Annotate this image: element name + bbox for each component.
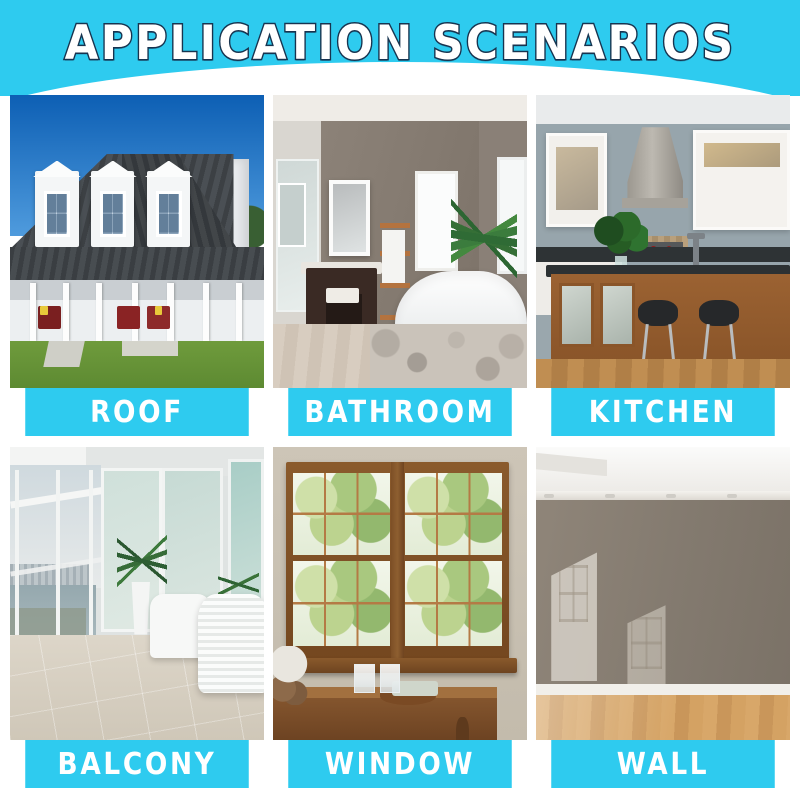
- floor-light-sheen: [536, 695, 790, 740]
- shoreline: [10, 608, 86, 637]
- pinecone-decoration: [273, 646, 309, 705]
- porch-column: [203, 283, 209, 342]
- shower-frame: [278, 183, 306, 247]
- caption-bathroom: BATHROOM: [288, 388, 512, 436]
- ceiling-track: [605, 494, 615, 498]
- vanity-mirror: [329, 180, 370, 256]
- bar-stool-seat: [638, 300, 679, 326]
- porch-cushion: [155, 306, 163, 315]
- walkway: [43, 341, 84, 367]
- hanging-towel: [382, 230, 405, 283]
- range-hood-lip: [622, 198, 688, 208]
- upper-cabinet-right: [693, 130, 790, 230]
- baseboard: [536, 684, 790, 694]
- porch-cushion: [40, 306, 48, 315]
- caption-balcony: BALCONY: [25, 740, 249, 788]
- pebble-floor-accent: [370, 324, 527, 388]
- window-sash: [405, 473, 502, 555]
- window-grille: [293, 473, 390, 555]
- wicker-chair: [198, 594, 264, 694]
- window-grille: [405, 561, 502, 646]
- drinking-glass: [354, 664, 374, 693]
- wood-floor: [536, 359, 790, 388]
- caption-wall: WALL: [551, 740, 775, 788]
- porch-column: [30, 283, 36, 342]
- window-photo: [273, 447, 527, 740]
- balcony-photo: [10, 447, 264, 740]
- poster-header: APPLICATION SCENARIOS: [0, 0, 800, 96]
- scenario-card-balcony[interactable]: BALCONY: [10, 447, 264, 788]
- window-mullion: [391, 462, 404, 661]
- wall-photo: [536, 447, 790, 740]
- window-sash: [293, 473, 390, 555]
- ceiling-track: [727, 494, 737, 498]
- dormer-window-2: [91, 171, 134, 247]
- scenario-card-bathroom[interactable]: BATHROOM: [273, 95, 527, 436]
- roof-photo: [10, 95, 264, 388]
- dormer-window-1: [35, 171, 78, 247]
- window-sash: [405, 561, 502, 646]
- back-countertop: [536, 247, 790, 262]
- scenario-card-kitchen[interactable]: KITCHEN: [536, 95, 790, 436]
- caption-window: WINDOW: [288, 740, 512, 788]
- caption-roof: ROOF: [25, 388, 249, 436]
- island-glass-door: [600, 283, 636, 347]
- bar-stool-seat: [699, 300, 740, 326]
- porch-furniture: [117, 306, 140, 329]
- green-plant: [592, 212, 648, 259]
- application-scenarios-poster: APPLICATION SCENARIOS: [0, 0, 800, 800]
- porch-column: [96, 283, 102, 342]
- window-grille: [293, 561, 390, 646]
- scenario-card-wall[interactable]: WALL: [536, 447, 790, 788]
- ceiling: [536, 95, 790, 124]
- scenario-card-window[interactable]: WINDOW: [273, 447, 527, 788]
- kitchen-photo: [536, 95, 790, 388]
- ceiling-track: [666, 494, 676, 498]
- porch-column: [63, 283, 69, 342]
- walkway: [122, 341, 178, 356]
- scenario-grid: ROOF: [10, 95, 790, 788]
- ceiling-track: [544, 494, 554, 498]
- crown-moulding: [536, 491, 790, 500]
- bathroom-photo: [273, 95, 527, 388]
- island-glass-door: [559, 283, 595, 347]
- table-leg: [456, 717, 469, 740]
- scenario-card-roof[interactable]: ROOF: [10, 95, 264, 436]
- vanity-stool: [326, 288, 359, 303]
- caption-kitchen: KITCHEN: [551, 388, 775, 436]
- porch-column: [236, 283, 242, 342]
- drinking-glass: [380, 664, 400, 693]
- dormer-window-3: [147, 171, 190, 247]
- window-sash: [293, 561, 390, 646]
- window-grille: [405, 473, 502, 555]
